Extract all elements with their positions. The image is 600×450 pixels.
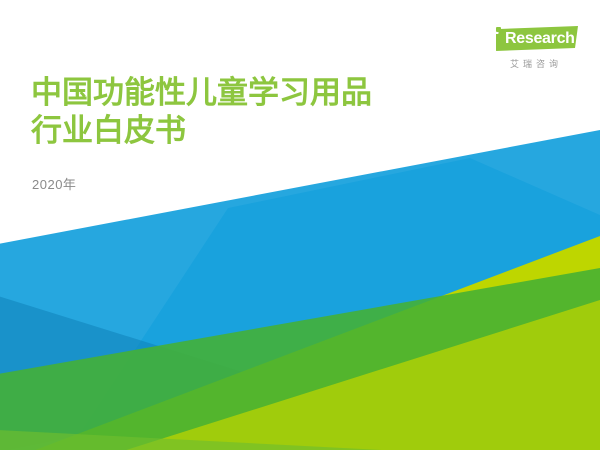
logo-i-dot-icon (496, 27, 501, 32)
title-line-1: 中国功能性儿童学习用品 (31, 74, 461, 112)
logo-mark: Research (482, 26, 578, 52)
page-title: 中国功能性儿童学习用品 行业白皮书 (31, 74, 461, 150)
iresearch-logo: Research 艾瑞咨询 (482, 26, 578, 70)
logo-i-stem-icon (496, 34, 501, 50)
logo-chinese-name: 艾瑞咨询 (494, 57, 578, 70)
report-year: 2020年 (32, 174, 76, 193)
cover-page: Research 艾瑞咨询 中国功能性儿童学习用品 行业白皮书 2020年 (0, 0, 600, 450)
title-line-2: 行业白皮书 (31, 112, 461, 150)
logo-wordmark: Research (505, 29, 575, 48)
